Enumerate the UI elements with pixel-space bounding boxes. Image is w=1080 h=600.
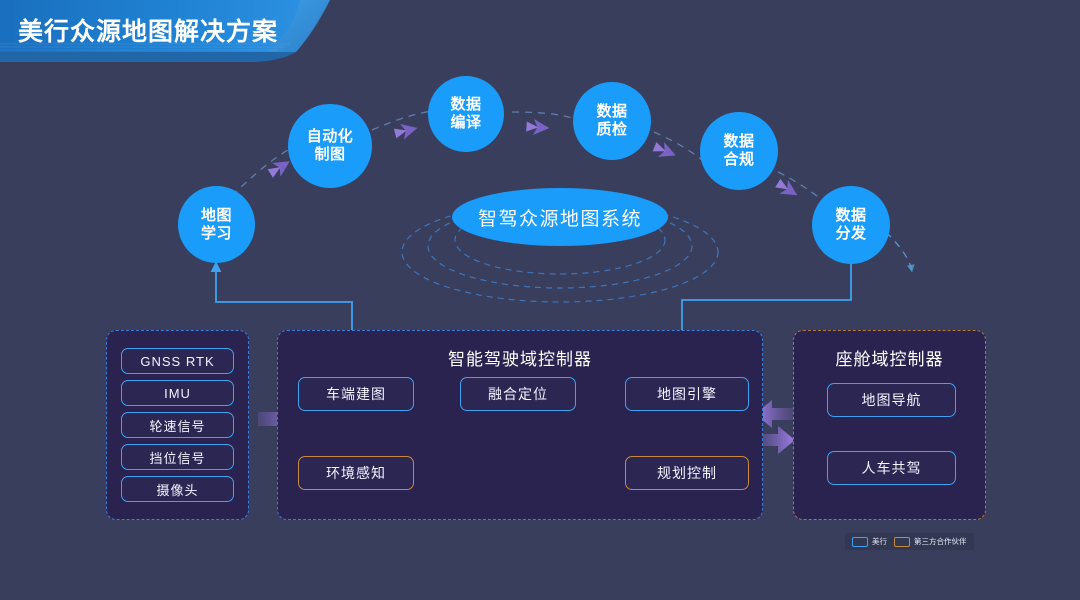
sensor-item-label: IMU <box>164 386 191 401</box>
sensor-item-wheel-speed[interactable]: 轮速信号 <box>121 412 234 438</box>
adc-box-vehicle-mapping[interactable]: 车端建图 <box>298 377 414 411</box>
node-label-line1: 自动化 <box>307 128 354 146</box>
sensor-item-imu[interactable]: IMU <box>121 380 234 406</box>
cabin-panel: 座舱域控制器 地图导航 人车共驾 <box>793 330 986 520</box>
arc-tail <box>886 232 912 272</box>
pipeline-node-data-distribution[interactable]: 数据 分发 <box>812 186 890 264</box>
legend: 美行 第三方合作伙伴 <box>845 533 974 550</box>
cabin-box-map-navigation[interactable]: 地图导航 <box>827 383 956 417</box>
legend-swatch-orange-icon <box>894 537 910 547</box>
slide-canvas: 美行众源地图解决方案 地图 学习 自动化 制图 数据 编译 数据 质检 数据 合… <box>0 0 1080 600</box>
sensor-item-camera[interactable]: 摄像头 <box>121 476 234 502</box>
pipeline-node-data-compliance[interactable]: 数据 合规 <box>700 112 778 190</box>
sensor-item-label: GNSS RTK <box>140 354 214 369</box>
node-label-line2: 编译 <box>450 114 481 132</box>
legend-label: 第三方合作伙伴 <box>914 536 967 547</box>
node-label-line2: 合规 <box>723 151 754 169</box>
adc-box-fusion-locating[interactable]: 融合定位 <box>460 377 576 411</box>
legend-item-third-party: 第三方合作伙伴 <box>894 536 967 547</box>
sensor-item-label: 挡位信号 <box>149 448 205 467</box>
adc-box-planning-control[interactable]: 规划控制 <box>625 456 749 490</box>
cabin-box-human-vehicle[interactable]: 人车共驾 <box>827 451 956 485</box>
pipeline-node-data-compile[interactable]: 数据 编译 <box>428 76 504 152</box>
sensor-input-panel: GNSS RTK IMU 轮速信号 挡位信号 摄像头 <box>106 330 249 520</box>
adc-box-label: 车端建图 <box>326 384 386 404</box>
node-label-line2: 质检 <box>596 121 627 139</box>
adc-panel-title: 智能驾驶域控制器 <box>278 345 762 370</box>
page-title: 美行众源地图解决方案 <box>18 12 278 48</box>
sensor-item-gnss-rtk[interactable]: GNSS RTK <box>121 348 234 374</box>
node-label-line1: 数据 <box>450 96 481 114</box>
node-label-line1: 地图 <box>201 207 232 225</box>
adc-box-label: 规划控制 <box>657 463 717 483</box>
node-label-line2: 分发 <box>835 225 866 243</box>
sensor-item-label: 轮速信号 <box>149 416 205 435</box>
pipeline-node-map-learning[interactable]: 地图 学习 <box>178 186 255 263</box>
adc-panel: 智能驾驶域控制器 车端建图 融合定位 地图引擎 环境感知 规划控制 <box>277 330 763 520</box>
cabin-box-label: 地图导航 <box>862 390 922 410</box>
node-label-line2: 学习 <box>201 225 232 243</box>
adc-box-label: 环境感知 <box>326 463 386 483</box>
header-banner: 美行众源地图解决方案 <box>0 0 360 62</box>
adc-box-map-engine[interactable]: 地图引擎 <box>625 377 749 411</box>
pipeline-node-auto-mapping[interactable]: 自动化 制图 <box>288 104 372 188</box>
adc-box-env-perception[interactable]: 环境感知 <box>298 456 414 490</box>
node-label-line1: 数据 <box>835 207 866 225</box>
adc-box-label: 地图引擎 <box>657 384 717 404</box>
cabin-box-label: 人车共驾 <box>862 458 922 478</box>
sensor-item-label: 摄像头 <box>156 480 198 499</box>
sensor-item-gear-signal[interactable]: 挡位信号 <box>121 444 234 470</box>
core-system-ellipse[interactable]: 智驾众源地图系统 <box>452 188 668 246</box>
legend-item-meixing: 美行 <box>852 536 887 547</box>
node-label-line1: 数据 <box>596 103 627 121</box>
node-label-line2: 制图 <box>307 146 354 164</box>
adc-box-label: 融合定位 <box>488 384 548 404</box>
cabin-panel-title: 座舱域控制器 <box>794 345 985 370</box>
legend-label: 美行 <box>872 536 887 547</box>
pipeline-node-data-qc[interactable]: 数据 质检 <box>573 82 651 160</box>
core-system-label: 智驾众源地图系统 <box>478 204 642 231</box>
legend-swatch-blue-icon <box>852 537 868 547</box>
node-label-line1: 数据 <box>723 133 754 151</box>
